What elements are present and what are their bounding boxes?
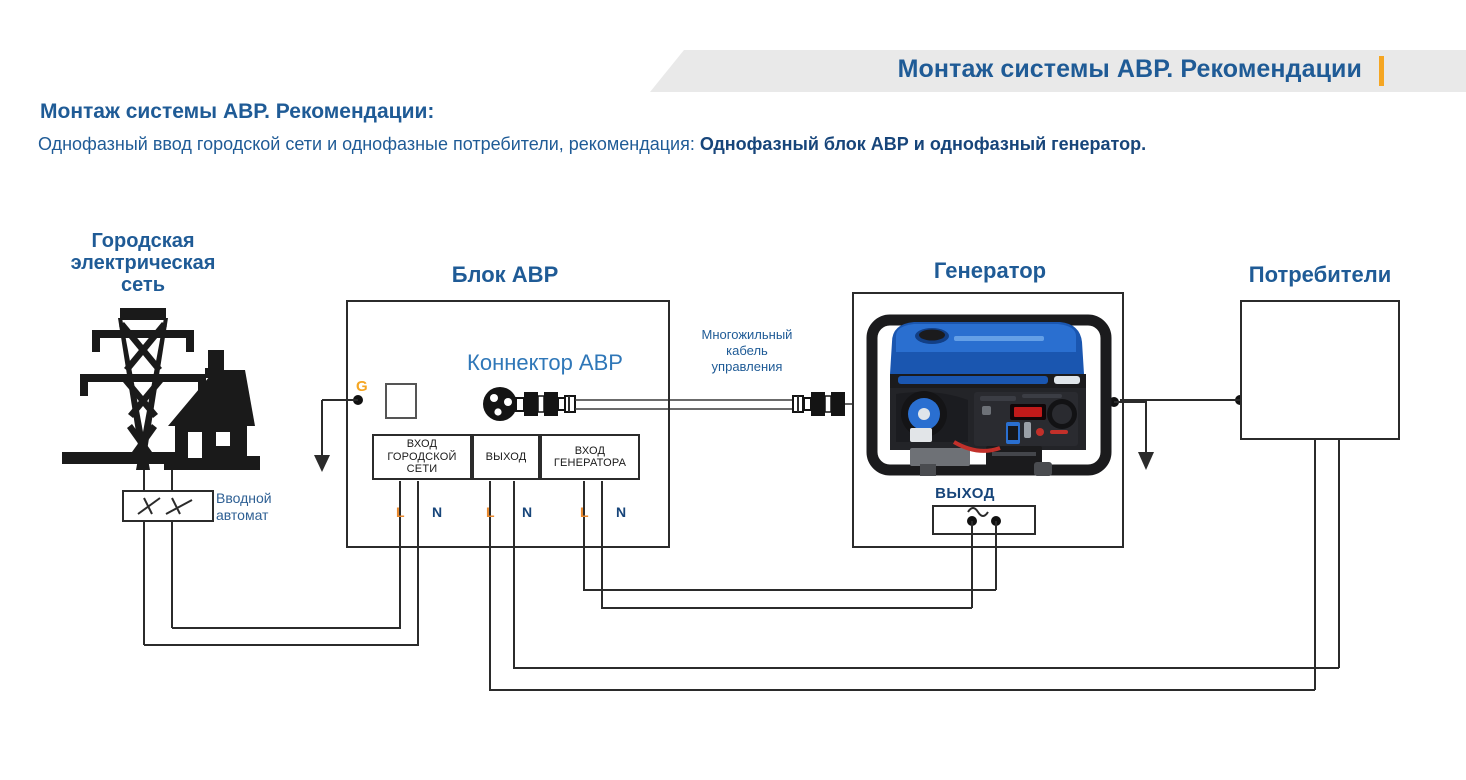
input-breaker-label-line1: Вводной [216, 490, 306, 507]
terminal-output: ВЫХОД [472, 434, 540, 480]
pin-label-output-l: L [486, 504, 495, 520]
pin-label-geninput-n: N [616, 504, 626, 520]
input-breaker-label: Вводной автомат [216, 490, 306, 524]
terminal-generator-input: ВХОД ГЕНЕРАТОРА [540, 434, 640, 480]
control-cable-label-line2: кабель [682, 343, 812, 359]
input-breaker-label-line2: автомат [216, 507, 306, 524]
pin-label-mains-n: N [432, 504, 442, 520]
input-breaker-box [122, 490, 214, 522]
ground-terminal-label: G [356, 378, 368, 395]
house-icon [164, 350, 260, 470]
consumers-ground-wire [1120, 395, 1245, 405]
ats-connector-label: Коннектор АВР [430, 350, 660, 376]
generator-photo [862, 302, 1116, 492]
terminal-mains-input: ВХОД ГОРОДСКОЙ СЕТИ [372, 434, 472, 480]
pin-label-output-n: N [522, 504, 532, 520]
control-cable-label-line1: Многожильный [682, 327, 812, 343]
diagram-page: Монтаж системы АВР. Рекомендации Монтаж … [0, 0, 1466, 780]
control-cable-label: Многожильный кабель управления [682, 327, 812, 375]
control-cable-label-line3: управления [682, 359, 812, 375]
pin-label-mains-l: L [396, 504, 405, 520]
consumers-enclosure [1240, 300, 1400, 440]
pin-label-geninput-l: L [580, 504, 589, 520]
generator-output-box [932, 505, 1036, 535]
warning-icon-box [385, 383, 417, 419]
